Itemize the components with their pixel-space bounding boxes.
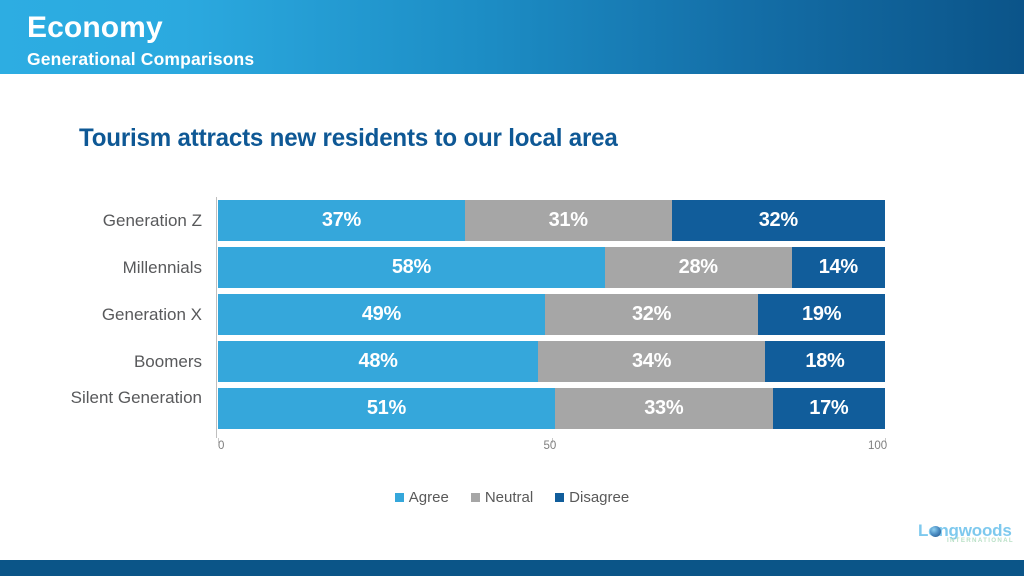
legend-swatch-icon [471, 493, 480, 502]
bar-row: 48%34%18% [218, 341, 885, 382]
bar-segment-neutral: 28% [605, 247, 792, 288]
category-label: Boomers [12, 351, 202, 372]
legend-label: Disagree [569, 489, 629, 506]
bar-row: 58%28%14% [218, 247, 885, 288]
bar-segment-disagree: 14% [792, 247, 885, 288]
longwoods-logo: Longwoods INTERNATIONAL [918, 521, 1010, 551]
legend-label: Agree [409, 489, 449, 506]
legend-item-disagree[interactable]: Disagree [555, 489, 629, 506]
bar-segment-neutral: 31% [465, 200, 672, 241]
category-label: Generation Z [12, 210, 202, 231]
legend-item-neutral[interactable]: Neutral [471, 489, 533, 506]
category-label: Silent Generation [12, 387, 202, 408]
stacked-bar-chart: 37%31%32%58%28%14%49%32%19%48%34%18%51%3… [0, 0, 1024, 576]
logo-subtext: INTERNATIONAL [947, 537, 1014, 544]
legend-item-agree[interactable]: Agree [395, 489, 449, 506]
bar-segment-disagree: 32% [672, 200, 885, 241]
legend-swatch-icon [395, 493, 404, 502]
chart-legend: AgreeNeutralDisagree [0, 489, 1024, 506]
bar-segment-disagree: 17% [773, 388, 885, 429]
bar-segment-agree: 37% [218, 200, 465, 241]
globe-icon [930, 526, 941, 537]
legend-label: Neutral [485, 489, 533, 506]
chart-y-axis-line [216, 197, 217, 438]
bar-segment-disagree: 18% [765, 341, 885, 382]
category-label: Generation X [12, 304, 202, 325]
x-axis-tick-label: 50 [544, 440, 557, 452]
bar-segment-neutral: 34% [538, 341, 765, 382]
bar-segment-agree: 58% [218, 247, 605, 288]
x-axis-tick-label: 0 [218, 440, 224, 452]
bar-segment-agree: 51% [218, 388, 555, 429]
bar-row: 37%31%32% [218, 200, 885, 241]
legend-swatch-icon [555, 493, 564, 502]
bar-segment-neutral: 33% [555, 388, 773, 429]
bar-segment-neutral: 32% [545, 294, 758, 335]
bar-segment-agree: 49% [218, 294, 545, 335]
bar-segment-agree: 48% [218, 341, 538, 382]
category-label: Millennials [12, 257, 202, 278]
bar-row: 51%33%17% [218, 388, 885, 429]
bar-row: 49%32%19% [218, 294, 885, 335]
bar-segment-disagree: 19% [758, 294, 885, 335]
x-axis-tick-label: 100 [868, 440, 887, 452]
slide-footer-band [0, 560, 1024, 576]
